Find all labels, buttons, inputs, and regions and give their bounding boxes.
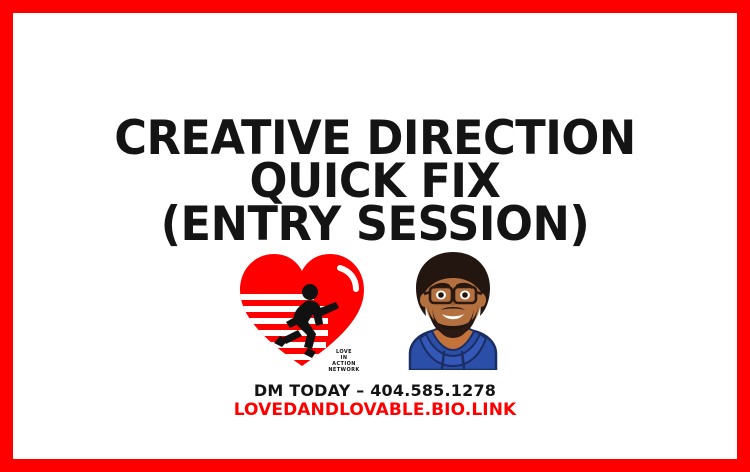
avatar bbox=[392, 248, 514, 375]
flyer-canvas: CREATIVE DIRECTION QUICK FIX (ENTRY SESS… bbox=[13, 13, 737, 459]
logo-micro-text: LOVE IN ACTION NETWORK bbox=[322, 349, 366, 373]
dm-today-text: DM TODAY – 404.585.1278 bbox=[13, 381, 737, 400]
bio-link-text[interactable]: LOVEDANDLOVABLE.BIO.LINK bbox=[13, 400, 737, 420]
logo-row: LOVE IN ACTION NETWORK bbox=[13, 249, 737, 375]
contact-block: DM TODAY – 404.585.1278 LOVEDANDLOVABLE.… bbox=[13, 381, 737, 420]
headline-block: CREATIVE DIRECTION QUICK FIX (ENTRY SESS… bbox=[13, 117, 737, 246]
flyer-border-frame: CREATIVE DIRECTION QUICK FIX (ENTRY SESS… bbox=[0, 0, 750, 472]
heart-runner-logo: LOVE IN ACTION NETWORK bbox=[236, 248, 368, 375]
avatar-illustration bbox=[392, 248, 514, 370]
micro-text-line-4: NETWORK bbox=[322, 367, 366, 373]
headline-line-3: (ENTRY SESSION) bbox=[31, 203, 719, 246]
